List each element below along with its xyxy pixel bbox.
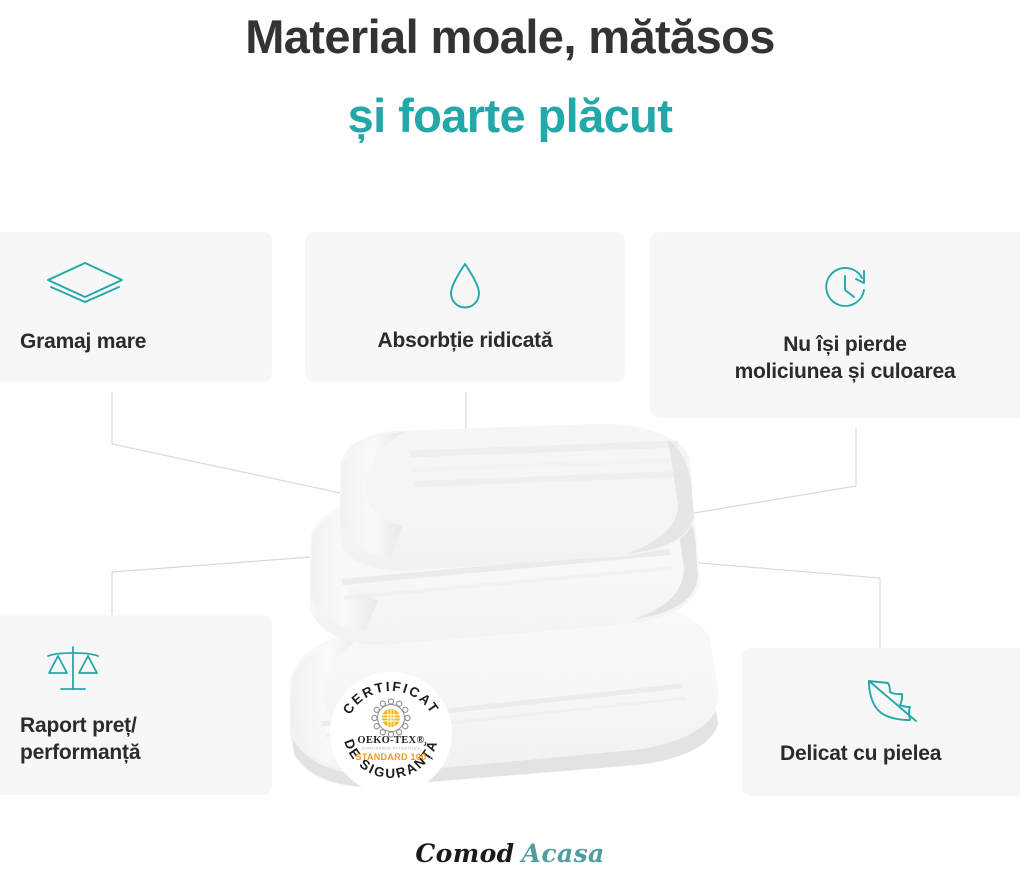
feature-label-moliciune-line2: moliciunea și culoarea: [735, 360, 956, 383]
feature-card-delicat-cu-pielea[interactable]: Delicat cu pielea: [742, 648, 1020, 796]
feature-label-moliciune-line1: Nu își pierde: [783, 333, 906, 356]
feature-label-gramaj-mare: Gramaj mare: [0, 329, 156, 356]
clock-refresh-icon: [818, 264, 872, 316]
cert-badge-svg: CERTIFICAT DE SIGURANȚĂ: [330, 672, 452, 794]
oeko-tex-certification-badge: CERTIFICAT DE SIGURANȚĂ: [330, 672, 452, 794]
feature-card-absorbtie-ridicata[interactable]: Absorbție ridicată: [305, 232, 625, 382]
feature-label-raport-pret-performanta: Raport preț/ performanță: [0, 713, 150, 767]
feature-label-raport-line1: Raport preț/: [20, 714, 137, 737]
feature-label-absorbtie-ridicata: Absorbție ridicată: [368, 328, 563, 355]
layers-icon: [42, 259, 128, 313]
feature-card-moliciune-culoare[interactable]: Nu își pierde moliciunea și culoarea: [650, 232, 1020, 418]
brand-word-acasa: Acasa: [522, 839, 605, 868]
oeko-tex-subtitle: CONFIDENCE IN TEXTILES: [362, 747, 420, 751]
feature-label-delicat-cu-pielea: Delicat cu pielea: [742, 741, 951, 768]
feature-label-raport-line2: performanță: [20, 741, 140, 764]
oeko-tex-standard: STANDARD 100: [356, 752, 427, 762]
water-drop-icon: [447, 260, 483, 312]
brand-word-comod: Comod: [415, 839, 514, 868]
page-title-line-2: și foarte plăcut: [0, 87, 1020, 144]
balance-scale-icon: [44, 643, 102, 697]
infographic-canvas: Material moale, mătăsos și foarte plăcut: [0, 0, 1020, 890]
heading-block: Material moale, mătăsos și foarte plăcut: [0, 8, 1020, 145]
brand-logo: ComodAcasa: [0, 839, 1020, 868]
leaf-icon: [864, 677, 924, 725]
feature-label-moliciune-culoare: Nu își pierde moliciunea și culoarea: [725, 332, 966, 386]
towel-top: [340, 424, 694, 571]
feature-card-gramaj-mare[interactable]: Gramaj mare: [0, 232, 272, 382]
feature-card-raport-pret-performanta[interactable]: Raport preț/ performanță: [0, 615, 272, 795]
page-title-line-1: Material moale, mătăsos: [0, 8, 1020, 65]
oeko-tex-wordmark: OEKO-TEX®: [357, 735, 424, 746]
